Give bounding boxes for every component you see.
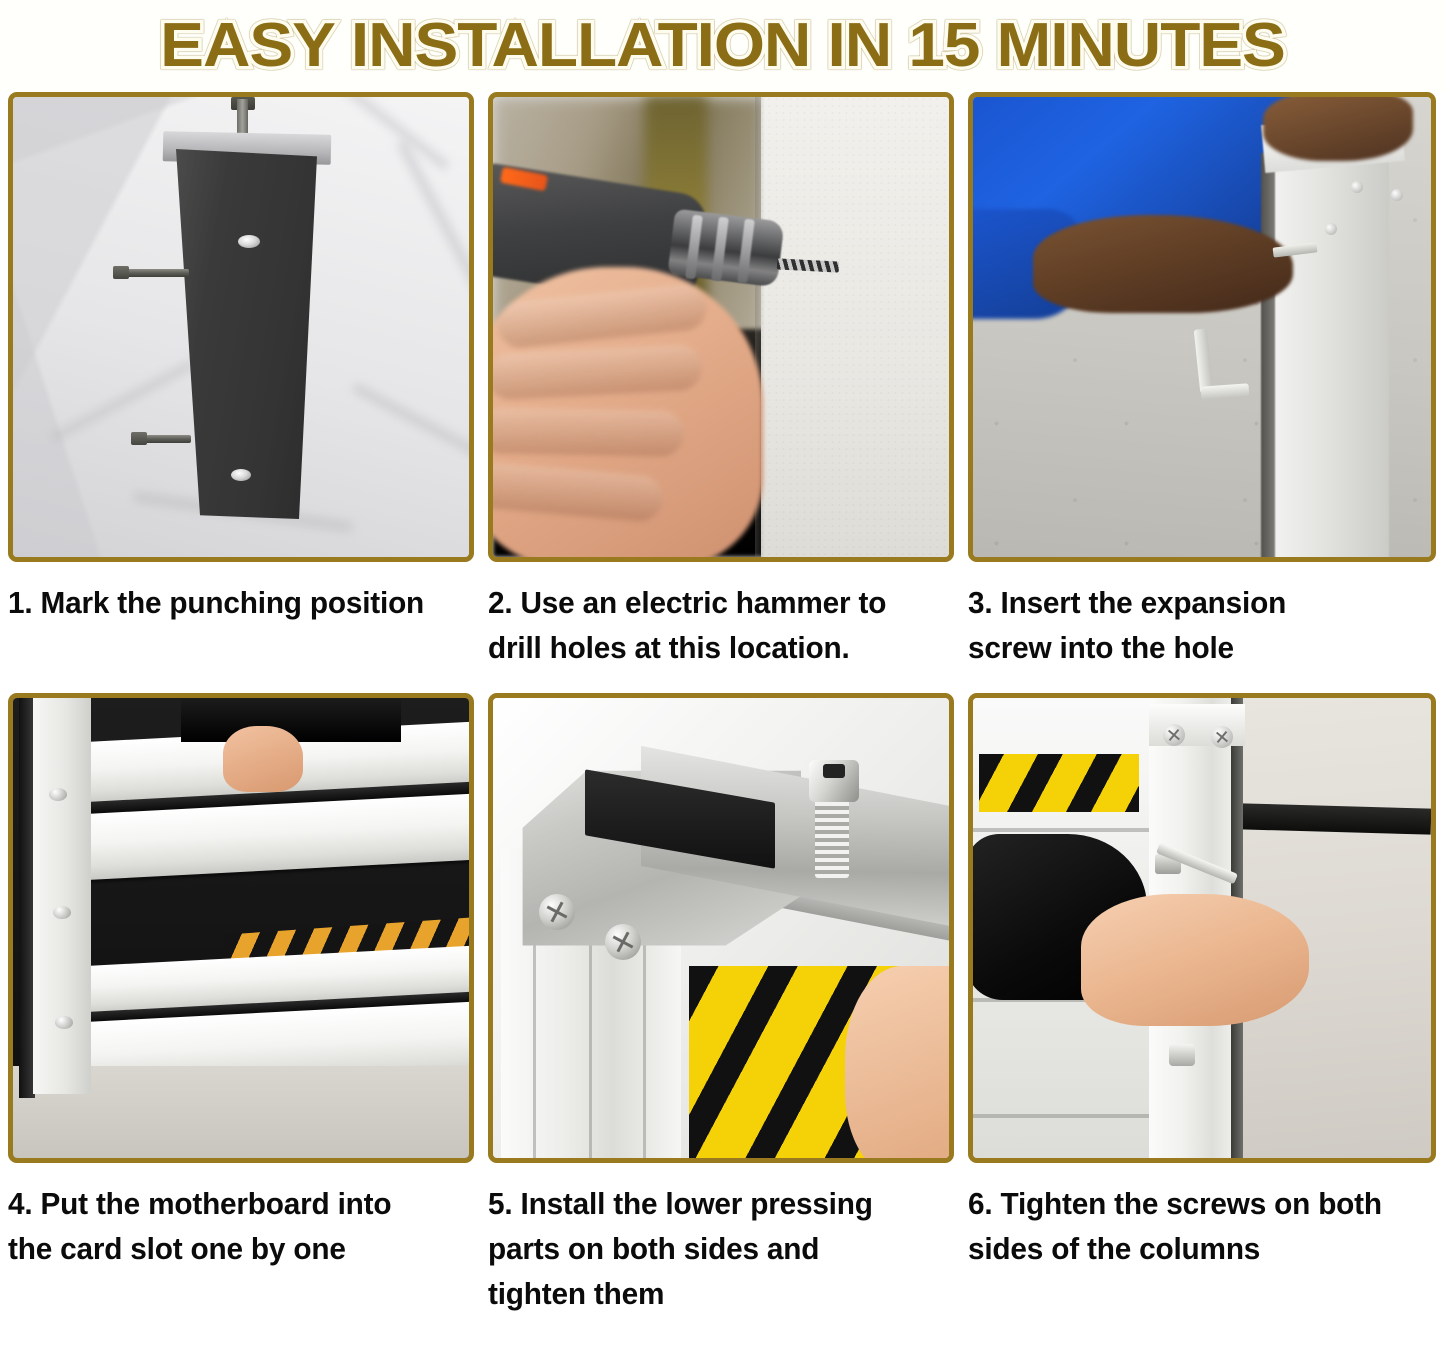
hand [845, 966, 949, 1158]
step-caption-4: 4. Put the motherboard into the card slo… [8, 1163, 450, 1272]
step-caption-2: 2. Use an electric hammer to drill holes… [488, 562, 930, 671]
step-caption-3: 3. Insert the expansion screw into the h… [968, 562, 1414, 671]
phillips-screw [539, 894, 575, 930]
phillips-screw [605, 924, 641, 960]
title-bar: EASY INSTALLATION IN 15 MINUTES [0, 0, 1445, 92]
forearm [1033, 215, 1293, 313]
hex-bolt [815, 794, 849, 878]
photo-tighten-screws [973, 698, 1431, 1158]
column-screw [1169, 1044, 1195, 1066]
white-column-post [1269, 147, 1389, 557]
step-photo-frame-6 [968, 693, 1436, 1163]
step-caption-6: 6. Tighten the screws on both sides of t… [968, 1163, 1414, 1272]
step-card-4: 4. Put the motherboard into the card slo… [0, 671, 480, 1317]
step-photo-frame-1 [8, 92, 474, 562]
wall-surface [761, 97, 949, 557]
photo-drill-holes [493, 97, 949, 557]
hand [1081, 894, 1309, 1026]
photo-insert-expansion-screw [973, 97, 1431, 557]
phillips-screw [1163, 724, 1185, 746]
photo-lower-pressing-parts [493, 698, 949, 1158]
step-card-6: 6. Tighten the screws on both sides of t… [960, 671, 1445, 1317]
hazard-stripe-panel [979, 754, 1139, 812]
step-caption-1: 1. Mark the punching position [8, 562, 450, 625]
step-card-5: 5. Install the lower pressing parts on b… [480, 671, 960, 1317]
step-card-3: 3. Insert the expansion screw into the h… [960, 92, 1445, 671]
phillips-screw [1211, 726, 1233, 748]
step-photo-frame-2 [488, 92, 954, 562]
steps-grid: 1. Mark the punching position [0, 92, 1445, 1316]
step-card-2: 2. Use an electric hammer to drill holes… [480, 92, 960, 671]
white-column-post [33, 698, 91, 1094]
hand [223, 726, 303, 792]
step-photo-frame-4 [8, 693, 474, 1163]
step-card-1: 1. Mark the punching position [0, 92, 480, 671]
step-photo-frame-3 [968, 92, 1436, 562]
photo-insert-boards-into-slot [13, 698, 469, 1158]
step-caption-5: 5. Install the lower pressing parts on b… [488, 1163, 930, 1317]
page-title: EASY INSTALLATION IN 15 MINUTES [160, 15, 1285, 77]
step-photo-frame-5 [488, 693, 954, 1163]
photo-mark-punching-position [13, 97, 469, 557]
